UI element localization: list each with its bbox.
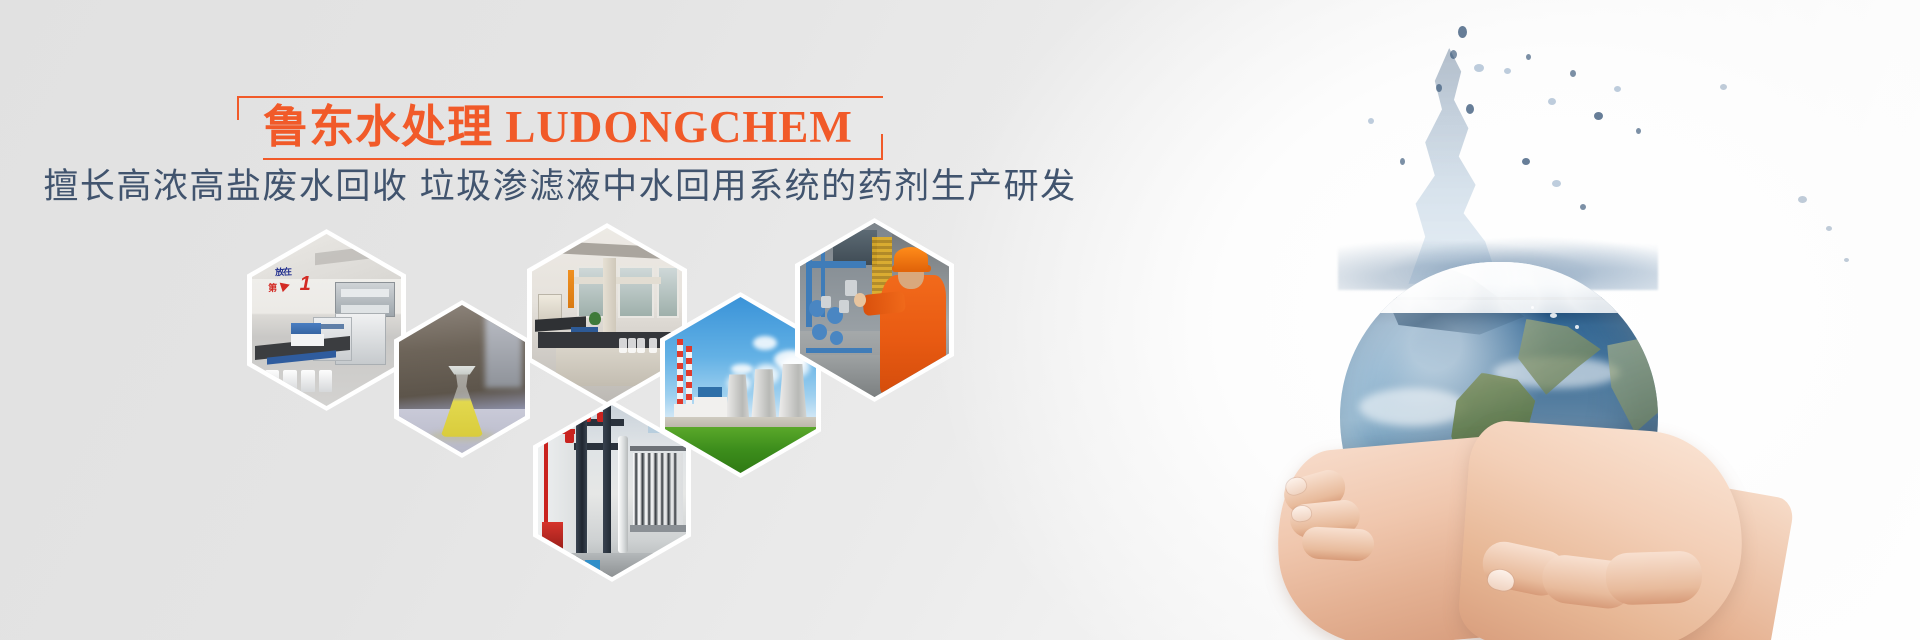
- air-bubble: [1575, 325, 1579, 329]
- water-droplet: [1526, 54, 1531, 60]
- chemical-jug: [301, 370, 314, 392]
- cloud: [753, 336, 777, 350]
- steel-fitting: [845, 280, 857, 296]
- cloud: [731, 364, 752, 375]
- water-droplet: [1594, 112, 1603, 120]
- membrane-vessel: [660, 453, 665, 529]
- water-droplet: [1548, 98, 1556, 105]
- glassware: [628, 338, 636, 354]
- membrane-bank: [633, 453, 683, 529]
- rack-frame: [630, 525, 686, 532]
- wall-cabinet: [335, 282, 395, 316]
- membrane-vessel: [653, 453, 658, 529]
- hexagon-gallery: 放在 第 1: [0, 0, 1130, 640]
- wall-slogan-red: 第: [268, 281, 276, 294]
- water-droplet: [1522, 158, 1530, 165]
- water-splash: [1308, 8, 1688, 288]
- water-droplet: [1570, 70, 1576, 77]
- finger: [1301, 526, 1375, 562]
- membrane-vessel: [640, 453, 645, 529]
- steel-column: [576, 405, 586, 577]
- valve-handle: [565, 433, 574, 443]
- window: [618, 266, 654, 318]
- potted-plant: [589, 312, 601, 326]
- water-droplet: [1458, 26, 1467, 38]
- glassware: [649, 338, 657, 354]
- blue-pipe: [806, 261, 866, 268]
- water-droplet: [1368, 118, 1374, 124]
- cooling-tower: [751, 369, 777, 424]
- flask-body: [441, 369, 484, 437]
- water-globe-artwork: [1180, 0, 1920, 640]
- water-droplet: [1844, 258, 1849, 262]
- wall-slogan: 放在 第 1: [262, 265, 334, 306]
- water-droplet: [1504, 68, 1511, 74]
- orange-stand: [568, 270, 574, 308]
- chemical-jug: [319, 370, 332, 392]
- glassware: [619, 338, 627, 354]
- membrane-vessel: [647, 453, 652, 529]
- steel-fitting: [821, 296, 831, 308]
- water-droplet: [1474, 64, 1484, 72]
- water-droplet: [1580, 204, 1586, 210]
- hex-conical-flask[interactable]: [394, 300, 530, 458]
- worker-hand: [854, 293, 866, 307]
- water-droplet: [1552, 180, 1561, 187]
- glassware: [637, 338, 645, 354]
- membrane-vessel: [618, 436, 628, 553]
- pipe-support: [806, 348, 872, 353]
- reagent-shelf: [574, 277, 661, 284]
- water-droplet: [1614, 86, 1621, 92]
- steel-column: [603, 405, 610, 577]
- floor: [538, 553, 686, 577]
- rack-frame: [630, 446, 686, 451]
- water-droplet: [1436, 84, 1442, 92]
- blue-valve: [830, 331, 843, 345]
- membrane-vessel: [673, 453, 678, 529]
- air-bubble: [1550, 313, 1557, 318]
- steel-fitting: [839, 300, 849, 314]
- water-droplet: [1466, 104, 1474, 114]
- wall-slogan-cn: 放在: [275, 265, 292, 279]
- wall-slogan-number: 1: [300, 274, 311, 294]
- water-droplet: [1450, 50, 1457, 59]
- water-droplet: [1798, 196, 1807, 203]
- finger: [1605, 550, 1703, 605]
- water-foam: [1340, 262, 1658, 313]
- arrow-icon: [280, 280, 292, 292]
- window: [657, 266, 680, 318]
- membrane-vessel: [666, 453, 671, 529]
- worker-arm: [862, 290, 906, 315]
- flask-neck: [448, 366, 476, 375]
- water-droplet: [1400, 158, 1405, 165]
- white-instrument: [291, 334, 324, 346]
- blue-valve: [812, 324, 827, 340]
- cupped-hands: [1276, 370, 1746, 640]
- water-droplet: [1826, 226, 1832, 231]
- hex-laboratory-room[interactable]: 放在 第 1: [247, 229, 406, 411]
- cooling-tower: [778, 364, 807, 424]
- membrane-vessel: [634, 453, 639, 529]
- water-droplet: [1636, 128, 1641, 134]
- water-droplet: [1720, 84, 1727, 90]
- hero-banner: 鲁东水处理 LUDONGCHEM 擅长高浓高盐废水回收 垃圾渗滤液中水回用系统的…: [0, 0, 1920, 640]
